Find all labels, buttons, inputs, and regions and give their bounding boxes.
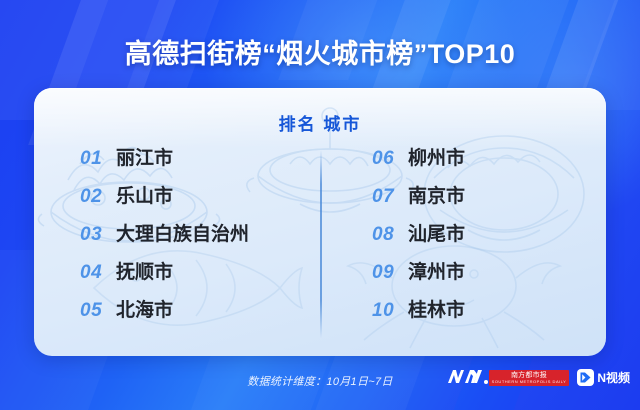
list-item[interactable]: 04 抚顺市	[34, 257, 320, 295]
rank-number: 04	[80, 262, 116, 284]
list-header: 排名 城市	[34, 110, 606, 135]
rank-number: 09	[372, 262, 408, 284]
city-name: 抚顺市	[116, 257, 173, 284]
rank-number: 08	[372, 224, 408, 246]
nanduclub-logo: 南方都市报 SOUTHERN METROPOLIS DAILY	[447, 368, 570, 386]
city-name: 南京市	[408, 181, 465, 208]
city-name: 桂林市	[408, 295, 465, 322]
ranking-column-right: 06 柳州市 07 南京市 08 汕尾市 09 漳州市 10 桂林市	[320, 143, 606, 333]
list-item[interactable]: 09 漳州市	[320, 257, 606, 295]
nd-badge-sub: SOUTHERN METROPOLIS DAILY	[492, 380, 567, 384]
list-item[interactable]: 05 北海市	[34, 295, 320, 333]
city-name: 大理白族自治州	[116, 219, 249, 246]
poster-canvas: 高德扫街榜“烟火城市榜”TOP10	[0, 0, 640, 410]
rank-number: 07	[372, 186, 408, 208]
rank-number: 06	[372, 148, 408, 170]
list-item[interactable]: 06 柳州市	[320, 143, 606, 181]
city-name: 柳州市	[408, 143, 465, 170]
rank-number: 02	[80, 186, 116, 208]
ranking-card: 排名 城市 01 丽江市 02 乐山市 03 大理白族自治州 04 抚顺市	[34, 88, 606, 356]
brand-logos: 南方都市报 SOUTHERN METROPOLIS DAILY N视频	[447, 368, 630, 386]
nvideo-label: N视频	[597, 369, 630, 386]
city-name: 乐山市	[116, 181, 173, 208]
nvideo-logo: N视频	[577, 369, 630, 386]
rank-number: 05	[80, 300, 116, 322]
list-item[interactable]: 01 丽江市	[34, 143, 320, 181]
list-item[interactable]: 08 汕尾市	[320, 219, 606, 257]
ranking-columns: 01 丽江市 02 乐山市 03 大理白族自治州 04 抚顺市 05 北海市	[34, 143, 606, 333]
city-name: 北海市	[116, 295, 173, 322]
city-name: 汕尾市	[408, 219, 465, 246]
rank-number: 10	[372, 300, 408, 322]
list-item[interactable]: 02 乐山市	[34, 181, 320, 219]
list-item[interactable]: 10 桂林市	[320, 295, 606, 333]
nanfang-daily-badge: 南方都市报 SOUTHERN METROPOLIS DAILY	[489, 370, 570, 386]
footer: 数据统计维度：10月1日~7日 南方都市报 SOUTHERN METROPOLI…	[0, 356, 640, 410]
city-name: 漳州市	[408, 257, 465, 284]
nd-wordmark-icon	[447, 368, 489, 386]
list-item[interactable]: 07 南京市	[320, 181, 606, 219]
play-button-icon	[577, 369, 594, 386]
list-item[interactable]: 03 大理白族自治州	[34, 219, 320, 257]
rank-number: 01	[80, 148, 116, 170]
page-title: 高德扫街榜“烟火城市榜”TOP10	[0, 32, 640, 71]
ranking-column-left: 01 丽江市 02 乐山市 03 大理白族自治州 04 抚顺市 05 北海市	[34, 143, 320, 333]
rank-number: 03	[80, 224, 116, 246]
city-name: 丽江市	[116, 143, 173, 170]
